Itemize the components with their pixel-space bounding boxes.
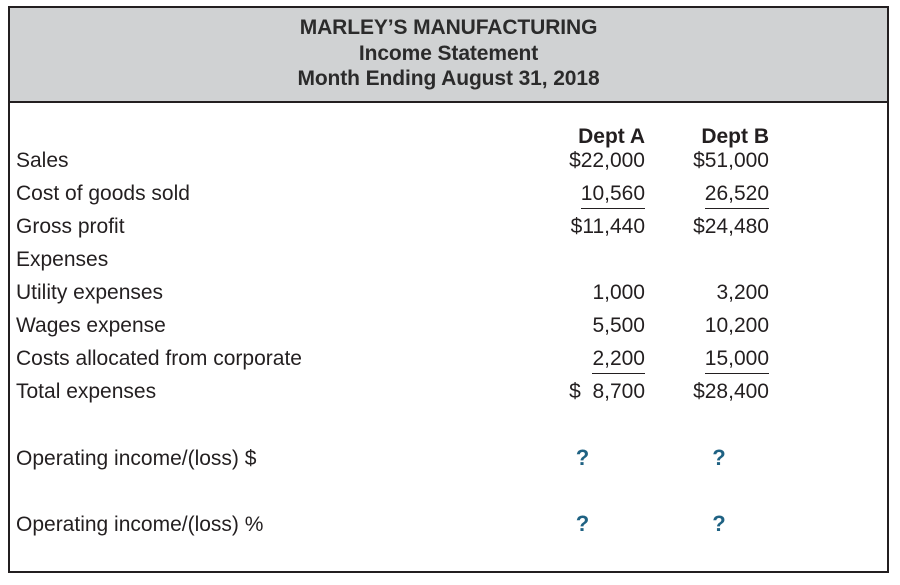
cell-value: 3,200 [716, 281, 769, 305]
value-cell-dept-a: 1,000 [520, 281, 645, 305]
cell-value: ? [576, 446, 589, 470]
income-statement-figure: MARLEY’S MANUFACTURING Income Statement … [0, 0, 900, 585]
statement-row: Wages expense5,50010,200 [10, 314, 887, 347]
cell-value: 15,000 [705, 347, 769, 374]
statement-header: MARLEY’S MANUFACTURING Income Statement … [10, 8, 887, 103]
value-cell-dept-a: $ 8,700 [520, 380, 645, 404]
cell-value: $ 8,700 [569, 380, 645, 404]
cell-value: $11,440 [571, 215, 645, 239]
row-label: Utility expenses [16, 281, 520, 305]
value-cell-dept-a: $22,000 [520, 149, 645, 173]
cell-value: ? [712, 512, 725, 536]
cell-value: ? [576, 512, 589, 536]
value-cell-dept-b: 15,000 [645, 347, 769, 374]
column-header-dept-b: Dept B [645, 125, 769, 149]
cell-value: 5,500 [592, 314, 645, 338]
row-label: Costs allocated from corporate [16, 347, 520, 371]
value-cell-dept-b [645, 248, 769, 272]
cell-value: $24,480 [693, 215, 769, 239]
answer-cell-dept-a[interactable]: ? [520, 512, 657, 536]
value-cell-dept-a [520, 248, 645, 272]
value-cell-dept-b: $24,480 [645, 215, 769, 239]
value-cell-dept-a: $11,440 [520, 215, 645, 239]
column-header-dept-a: Dept A [520, 125, 645, 149]
report-title: Income Statement [10, 41, 887, 67]
statement-row: Utility expenses1,0003,200 [10, 281, 887, 314]
answer-cell-dept-a[interactable]: ? [520, 446, 657, 470]
row-label: Total expenses [16, 380, 520, 404]
value-cell-dept-b: 3,200 [645, 281, 769, 305]
cell-value: 2,200 [592, 347, 645, 374]
statement-body: Dept A Dept B Sales$22,000$51,000Cost of… [10, 103, 887, 545]
row-label: Sales [16, 149, 520, 173]
column-header-row: Dept A Dept B [10, 109, 887, 149]
company-name: MARLEY’S MANUFACTURING [10, 15, 887, 41]
answer-cell-dept-b[interactable]: ? [657, 512, 787, 536]
value-cell-dept-a: 5,500 [520, 314, 645, 338]
cell-value: ? [712, 446, 725, 470]
row-label: Wages expense [16, 314, 520, 338]
answer-cell-dept-b[interactable]: ? [657, 446, 787, 470]
statement-row: Cost of goods sold10,56026,520 [10, 182, 887, 215]
statement-row: Operating income/(loss) %?? [10, 512, 887, 545]
row-label: Expenses [16, 248, 520, 272]
statement-row: Operating income/(loss) $?? [10, 446, 887, 479]
cell-value: 1,000 [592, 281, 645, 305]
cell-value: 10,560 [581, 182, 645, 209]
row-label: Operating income/(loss) % [16, 513, 520, 537]
statement-table: MARLEY’S MANUFACTURING Income Statement … [8, 6, 889, 573]
value-cell-dept-b: 10,200 [645, 314, 769, 338]
cell-value: $51,000 [693, 149, 769, 173]
statement-row: Costs allocated from corporate2,20015,00… [10, 347, 887, 380]
row-label: Cost of goods sold [16, 182, 520, 206]
cell-value: $28,400 [693, 380, 769, 404]
value-cell-dept-b: $51,000 [645, 149, 769, 173]
value-cell-dept-a: 2,200 [520, 347, 645, 374]
statement-row: Gross profit$11,440$24,480 [10, 215, 887, 248]
statement-row: Expenses [10, 248, 887, 281]
cell-value: 26,520 [705, 182, 769, 209]
cell-value: 10,200 [705, 314, 769, 338]
row-label: Gross profit [16, 215, 520, 239]
statement-rows: Sales$22,000$51,000Cost of goods sold10,… [10, 149, 887, 545]
report-period: Month Ending August 31, 2018 [10, 66, 887, 92]
value-cell-dept-a: 10,560 [520, 182, 645, 209]
statement-row: Sales$22,000$51,000 [10, 149, 887, 182]
cell-value: $22,000 [569, 149, 645, 173]
value-cell-dept-b: 26,520 [645, 182, 769, 209]
statement-row: Total expenses$ 8,700$28,400 [10, 380, 887, 413]
value-cell-dept-b: $28,400 [645, 380, 769, 404]
row-label: Operating income/(loss) $ [16, 447, 520, 471]
